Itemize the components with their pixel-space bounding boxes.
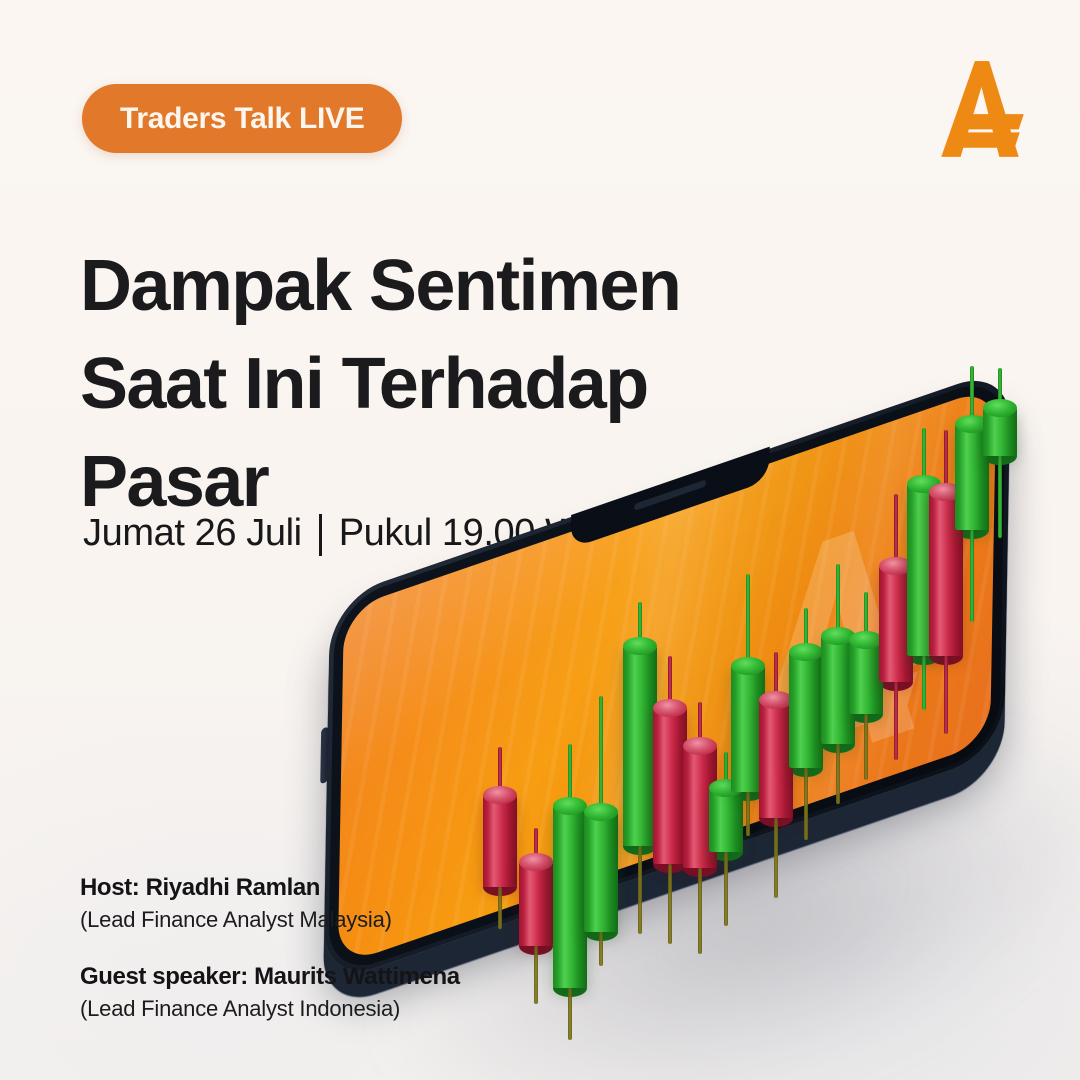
schedule-separator	[319, 514, 322, 556]
credit-guest: Guest speaker: Maurits Wattimena (Lead F…	[80, 963, 460, 1022]
phone-side-button	[320, 726, 329, 784]
speaker-credits: Host: Riyadhi Ramlan (Lead Finance Analy…	[80, 874, 460, 1022]
credit-name: Guest speaker: Maurits Wattimena	[80, 963, 460, 991]
headline-line-1: Dampak Sentimen	[80, 238, 840, 336]
promo-poster: Traders Talk LIVE Dampak Sentimen Saat I…	[0, 0, 1080, 1080]
brand-logo-icon	[930, 55, 1032, 163]
credit-role: (Lead Finance Analyst Indonesia)	[80, 996, 460, 1022]
live-badge: Traders Talk LIVE	[82, 84, 402, 153]
live-badge-label: Traders Talk LIVE	[120, 102, 364, 136]
credit-host: Host: Riyadhi Ramlan (Lead Finance Analy…	[80, 874, 460, 933]
credit-name: Host: Riyadhi Ramlan	[80, 874, 460, 902]
credit-role: (Lead Finance Analyst Malaysia)	[80, 907, 460, 933]
schedule-date: Jumat 26 Juli	[83, 512, 302, 555]
headline-line-2: Saat Ini Terhadap	[80, 336, 840, 434]
